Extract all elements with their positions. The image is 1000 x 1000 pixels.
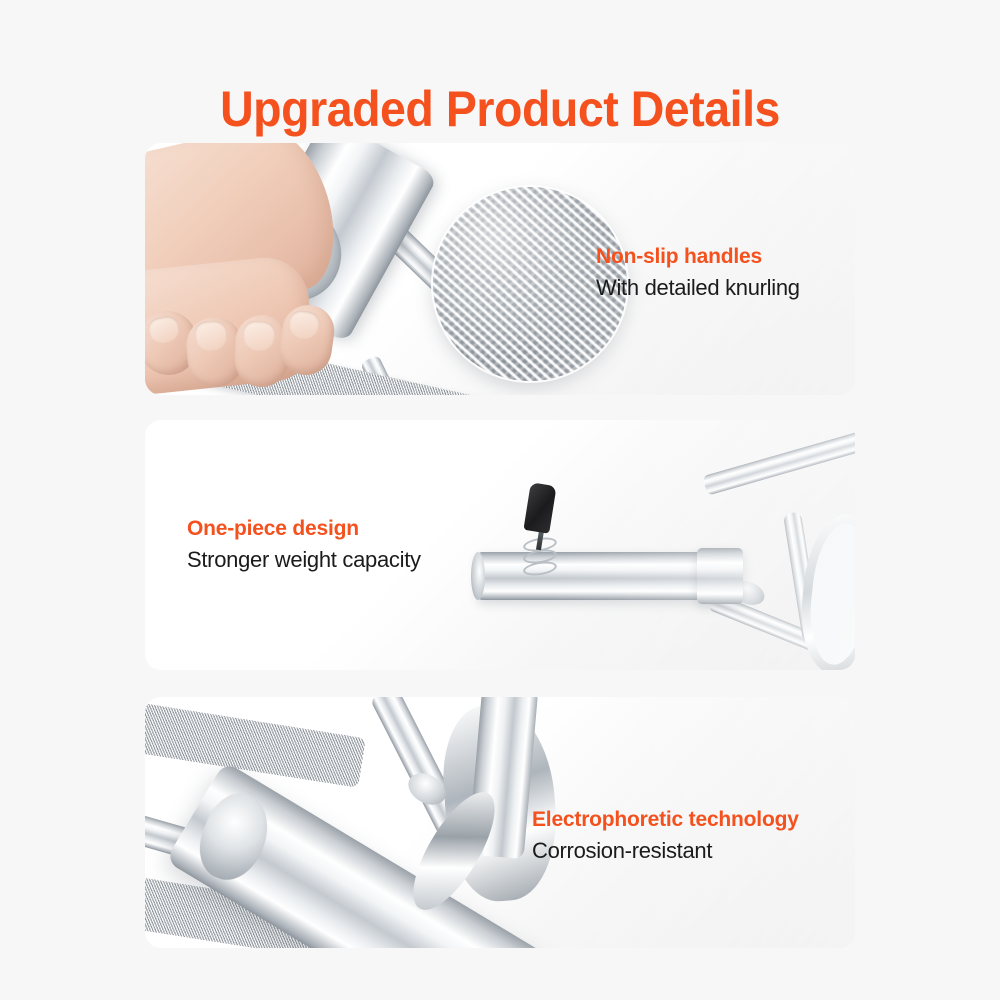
hand-gripping-handle <box>145 145 381 393</box>
trap-bar-upper-frame <box>702 420 855 496</box>
caption-title: One-piece design <box>187 516 421 542</box>
product-details-page: Upgraded Product Details <box>0 0 1000 1000</box>
caption-electrophoretic-technology: Electrophoretic technology Corrosion-res… <box>532 807 799 865</box>
caption-subtitle: Stronger weight capacity <box>187 545 421 574</box>
caption-one-piece-design: One-piece design Stronger weight capacit… <box>187 516 421 574</box>
caption-non-slip-handles: Non-slip handles With detailed knurling <box>596 244 800 302</box>
caption-subtitle: With detailed knurling <box>596 273 800 302</box>
page-title: Upgraded Product Details <box>35 80 965 138</box>
detail-card-non-slip-handles: Non-slip handles With detailed knurling <box>145 143 855 395</box>
detail-card-one-piece-design: One-piece design Stronger weight capacit… <box>145 420 855 670</box>
barbell-sleeve-end <box>471 552 485 600</box>
detail-card-electrophoretic-technology: Electrophoretic technology Corrosion-res… <box>145 697 855 948</box>
barbell-collar <box>697 548 743 604</box>
caption-title: Non-slip handles <box>596 244 800 270</box>
knurled-bar-top <box>145 699 366 787</box>
caption-subtitle: Corrosion-resistant <box>532 836 799 865</box>
black-spring-clip <box>523 482 556 533</box>
caption-title: Electrophoretic technology <box>532 807 799 833</box>
barbell-sleeve <box>477 552 717 600</box>
